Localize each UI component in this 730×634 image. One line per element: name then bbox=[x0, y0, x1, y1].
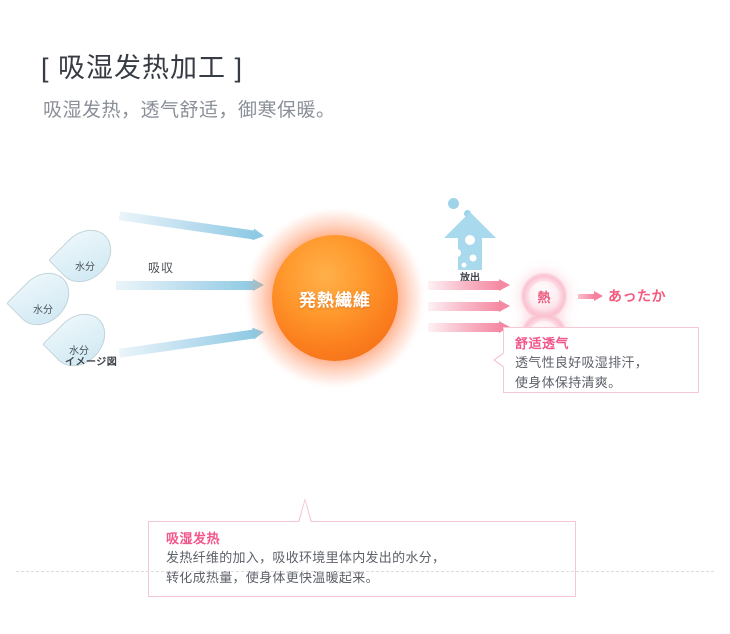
arrow-bar bbox=[119, 329, 255, 357]
absorb-arrow-icon bbox=[116, 281, 264, 290]
arrow-bar bbox=[428, 302, 500, 311]
arrow-bar bbox=[119, 211, 255, 239]
arrow-tip bbox=[499, 279, 510, 291]
page-subtitle: 吸湿发热，透气舒适，御寒保暖。 bbox=[43, 98, 336, 124]
water-drop-label: 水分 bbox=[20, 301, 66, 316]
water-drop-icon: 水分 bbox=[62, 227, 108, 285]
callout-line-2: 使身体保持清爽。 bbox=[515, 373, 689, 393]
callout-title: 吸湿发热 bbox=[166, 530, 565, 548]
warm-text: あったか bbox=[608, 286, 666, 306]
page-title: [ 吸湿发热加工 ] bbox=[41, 51, 243, 85]
water-drop-label: 水分 bbox=[56, 342, 102, 357]
arrow-tip bbox=[252, 228, 265, 241]
callout-breathable: 舒适透气 透气性良好吸湿排汗， 使身体保持清爽。 bbox=[503, 327, 699, 393]
up-arrow-shape bbox=[444, 212, 496, 270]
absorb-label: 吸収 bbox=[148, 259, 174, 276]
arrow-bar bbox=[578, 294, 594, 299]
heat-fiber-label: 発熱繊維 bbox=[272, 235, 398, 361]
product-feature-page: [ 吸湿发热加工 ] 吸湿发热，透气舒适，御寒保暖。 水分 水分 水分 bbox=[0, 0, 730, 634]
bubble-icon bbox=[448, 198, 459, 209]
mechanism-diagram: 水分 水分 水分 吸収 イメージ図 発熱繊維 bbox=[0, 150, 730, 480]
warm-arrow-icon bbox=[578, 292, 603, 300]
absorb-arrow-icon bbox=[119, 211, 265, 241]
callout-line-1: 透气性良好吸湿排汗， bbox=[515, 353, 689, 373]
arrow-bar bbox=[428, 323, 500, 332]
water-drop-label: 水分 bbox=[62, 258, 108, 273]
heat-arrow-icon bbox=[428, 281, 510, 290]
arrow-bar bbox=[116, 281, 254, 290]
arrow-tip bbox=[594, 291, 603, 301]
section-divider bbox=[16, 571, 714, 572]
release-arrow-icon bbox=[444, 198, 496, 270]
callout-line-1: 发热纤维的加入，吸收环境里体内发出的水分， bbox=[166, 548, 565, 568]
callout-pointer-inner bbox=[299, 501, 311, 523]
callout-moisture-heat: 吸湿发热 发热纤维的加入，吸收环境里体内发出的水分， 转化成热量，使身体更快温暖… bbox=[148, 521, 576, 597]
arrow-tip bbox=[499, 300, 510, 312]
arrow-bar bbox=[428, 281, 500, 290]
absorb-arrow-icon bbox=[119, 328, 265, 358]
callout-title: 舒适透气 bbox=[515, 335, 689, 353]
callout-pointer-inner bbox=[495, 352, 506, 368]
heat-arrow-icon bbox=[428, 302, 510, 311]
heat-arrow-icon bbox=[428, 323, 510, 332]
